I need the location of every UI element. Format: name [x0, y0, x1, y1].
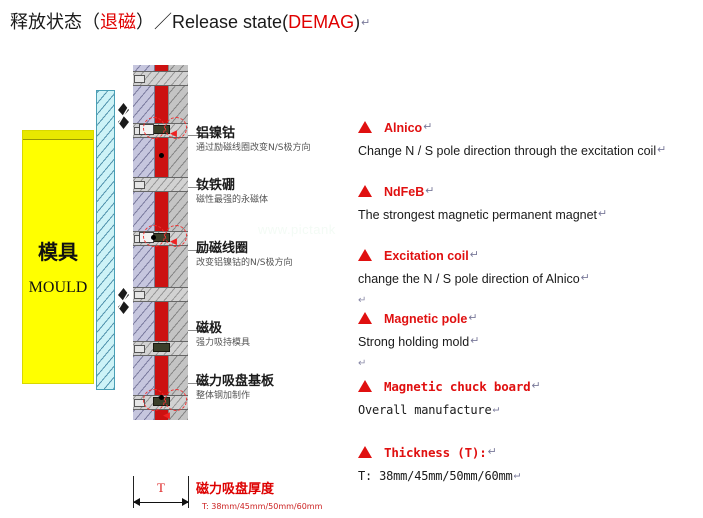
legend-body-text: The strongest magnetic permanent magnet — [358, 208, 597, 222]
callout-title: 钕铁硼 — [196, 178, 268, 193]
legend-head: NdFeB↵ — [358, 183, 703, 201]
title-en-main: Release state( — [172, 12, 288, 32]
title-en-red: DEMAG — [288, 12, 354, 32]
flux-arrow-icon: ◀ — [170, 129, 177, 138]
title-cn-main: 释放状态 — [10, 12, 82, 32]
callout-title: 励磁线圈 — [196, 241, 292, 256]
callout-alnico: 铝镍钴 通过励磁线圈改变N/S极方向 — [196, 126, 310, 154]
callout-subtitle: 通过励磁线圈改变N/S极方向 — [196, 142, 310, 154]
paragraph-mark-icon: ↵ — [487, 446, 497, 458]
triangle-bullet-icon — [358, 446, 372, 458]
triangle-bullet-icon — [358, 380, 372, 392]
flux-circle — [143, 389, 165, 411]
mould-block: 模具 MOULD — [22, 130, 94, 384]
paragraph-mark-icon: ↵ — [513, 468, 520, 481]
thickness-dimension: T — [130, 476, 192, 518]
legend-body-text: Overall manufacture — [358, 403, 491, 417]
paragraph-mark-icon: ↵ — [358, 295, 366, 306]
mould-label-en: MOULD — [23, 279, 93, 297]
legend-item-chuck-board: Magnetic chuck board↵ Overall manufactur… — [358, 378, 703, 419]
legend-body-text: change the N / S pole direction of Alnic… — [358, 272, 580, 286]
flux-circle — [143, 117, 165, 139]
callout-excitation-coil: 励磁线圈 改变铝镍钴的N/S极方向 — [196, 241, 292, 269]
legend-body: change the N / S pole direction of Alnic… — [358, 270, 703, 288]
ndfeb-magnet-block — [153, 343, 170, 352]
legend-item-alnico: Alnico↵ Change N / S pole direction thro… — [358, 119, 703, 160]
paragraph-mark-icon: ↵ — [469, 249, 479, 261]
legend-head: Thickness (T):↵ — [358, 444, 703, 461]
legend-title: Alnico — [384, 121, 422, 135]
callout-chuck-board: 磁力吸盘基板 整体钢加制作 — [196, 374, 274, 402]
dimension-arrow-left-icon — [133, 498, 140, 506]
legend-body-text: Change N / S pole direction through the … — [358, 144, 656, 158]
title-paren-close: ） — [136, 12, 154, 32]
gap-arrow-icon-bottom — [117, 288, 130, 314]
legend-body: The strongest magnetic permanent magnet↵ — [358, 206, 703, 224]
paragraph-mark-icon: ↵ — [656, 144, 666, 156]
legend-head: Excitation coil↵ — [358, 247, 703, 265]
callout-title: 磁极 — [196, 321, 250, 336]
pole-dot-marker — [159, 153, 164, 158]
triangle-bullet-icon — [358, 249, 372, 261]
legend-body: Strong holding mold↵ — [358, 333, 703, 351]
callout-subtitle: 整体钢加制作 — [196, 390, 274, 402]
dimension-label: T — [130, 480, 192, 496]
flux-arrow-icon: ◀ — [170, 237, 177, 246]
callout-title: 磁力吸盘基板 — [196, 374, 274, 389]
callout-ndfeb: 钕铁硼 磁性最强的永磁体 — [196, 178, 268, 206]
legend-title: Thickness (T): — [384, 445, 487, 460]
pole-dot-marker — [159, 395, 164, 400]
mould-label-cn: 模具 — [23, 236, 93, 265]
callout-subtitle: 强力吸持模具 — [196, 337, 250, 349]
mould-top-strip — [23, 131, 93, 140]
paragraph-mark-icon: ↵ — [422, 121, 432, 133]
legend-item-ndfeb: NdFeB↵ The strongest magnetic permanent … — [358, 183, 703, 224]
magnetic-chuck-assembly: ◀ ◀ ◀ — [133, 65, 188, 420]
workpiece-plate — [96, 90, 115, 390]
paragraph-mark-icon: ↵ — [358, 358, 366, 369]
title-cn-red: 退磁 — [100, 12, 136, 32]
legend-title: Magnetic chuck board — [384, 379, 531, 394]
legend-item-excitation-coil: Excitation coil↵ change the N / S pole d… — [358, 247, 703, 288]
callout-thickness: 磁力吸盘厚度 T: 38mm/45mm/50mm/60mm — [196, 482, 322, 513]
legend-body: Change N / S pole direction through the … — [358, 142, 703, 160]
triangle-bullet-icon — [358, 312, 372, 324]
thickness-title: 磁力吸盘厚度 — [196, 482, 322, 498]
paragraph-mark-icon: ↵ — [360, 17, 370, 29]
legend-head: Alnico↵ — [358, 119, 703, 137]
callout-subtitle: 磁性最强的永磁体 — [196, 194, 268, 206]
triangle-bullet-icon — [358, 121, 372, 133]
legend-item-thickness: Thickness (T):↵ T: 38mm/45mm/50mm/60mm↵ — [358, 444, 703, 485]
legend-body: T: 38mm/45mm/50mm/60mm↵ — [358, 466, 703, 485]
gap-arrow-icon-top — [117, 103, 130, 129]
paragraph-mark-icon: ↵ — [580, 272, 590, 284]
pole-dot-marker — [151, 235, 156, 240]
triangle-bullet-icon — [358, 185, 372, 197]
paragraph-mark-icon: ↵ — [491, 402, 498, 415]
flux-circle — [165, 389, 187, 411]
title-paren-open: （ — [82, 12, 100, 32]
thickness-subtitle: T: 38mm/45mm/50mm/60mm — [202, 501, 322, 513]
pole-row — [133, 71, 188, 86]
chuck-cross-section-diagram: 模具 MOULD — [0, 45, 350, 486]
legend-body-text: Strong holding mold — [358, 335, 469, 349]
paragraph-mark-icon: ↵ — [467, 312, 477, 324]
legend-title: Magnetic pole — [384, 312, 467, 326]
page-title: 释放状态（退磁）／Release state(DEMAG)↵ — [10, 8, 690, 38]
legend-head: Magnetic pole↵ — [358, 310, 703, 328]
pole-row — [133, 177, 188, 192]
callout-title: 铝镍钴 — [196, 126, 310, 141]
legend-body-text: T: 38mm/45mm/50mm/60mm — [358, 469, 513, 483]
legend-title: NdFeB — [384, 185, 424, 199]
flux-arrow-icon: ◀ — [163, 411, 170, 420]
dimension-arrow-right-icon — [182, 498, 189, 506]
legend-title: Excitation coil — [384, 249, 469, 263]
legend-head: Magnetic chuck board↵ — [358, 378, 703, 395]
paragraph-mark-icon: ↵ — [531, 380, 541, 392]
dimension-line — [134, 502, 188, 503]
callout-subtitle: 改变铝镍钴的N/S极方向 — [196, 257, 292, 269]
title-separator: ／ — [154, 12, 172, 32]
callout-magnetic-pole: 磁极 强力吸持模具 — [196, 321, 250, 349]
legend-panel: Alnico↵ Change N / S pole direction thro… — [358, 45, 703, 486]
paragraph-mark-icon: ↵ — [424, 185, 434, 197]
pole-row — [133, 287, 188, 302]
legend-body: Overall manufacture↵ — [358, 400, 703, 419]
paragraph-mark-icon: ↵ — [597, 208, 607, 220]
legend-item-magnetic-pole: Magnetic pole↵ Strong holding mold↵ — [358, 310, 703, 351]
paragraph-mark-icon: ↵ — [469, 335, 479, 347]
